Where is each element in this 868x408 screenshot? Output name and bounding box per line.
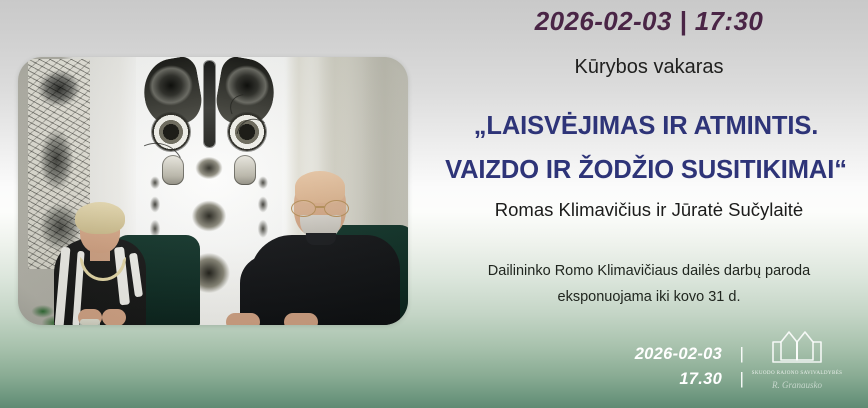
photo-man-bald-head	[295, 171, 345, 203]
headline-date-time: 2026-02-03 | 17:30	[430, 6, 868, 37]
library-logo-name: SKUODO RAJONO SAVIVALDYBĖS	[748, 370, 846, 376]
library-logo: SKUODO RAJONO SAVIVALDYBĖS R. Granausko	[748, 330, 846, 400]
footer-date: 2026-02-03	[635, 345, 722, 363]
footer-separator-2: |	[727, 367, 744, 392]
exhibition-note-line-2: eksponuojama iki kovo 31 d.	[440, 284, 858, 310]
event-title-line-1: „LAISVĖJIMAS IR ATMINTIS.	[424, 104, 868, 148]
glasses-left-lens	[291, 200, 316, 217]
photo-man-hand	[226, 313, 260, 325]
photo-water-glass	[80, 319, 100, 325]
footer-separator-1: |	[727, 342, 744, 367]
event-title-line-2: VAIZDO IR ŽODŽIO SUSITIKIMAI“	[424, 148, 868, 192]
footer-date-row: 2026-02-03 |	[635, 342, 744, 367]
photo-woman-hand	[102, 309, 126, 325]
footer-date-time: 2026-02-03 | 17.30 |	[635, 342, 744, 392]
event-kind-label: Kūrybos vakaras	[430, 56, 868, 79]
footer-time-row: 17.30 |	[635, 367, 744, 392]
footer-time: 17.30	[679, 370, 722, 388]
photo-man-hand	[284, 313, 318, 325]
exhibition-note: Dailininko Romo Klimavičiaus dailės darb…	[440, 258, 858, 310]
photo-man-glasses	[289, 200, 351, 215]
library-logo-signature: R. Granausko	[748, 380, 846, 390]
event-authors: Romas Klimavičius ir Jūratė Sučylaitė	[430, 199, 868, 221]
event-title: „LAISVĖJIMAS IR ATMINTIS. VAIZDO IR ŽODŽ…	[424, 104, 868, 192]
photo-woman-hair	[75, 202, 125, 234]
butterfly-body	[204, 61, 215, 147]
photo-man-body	[250, 235, 400, 325]
event-photo	[18, 57, 408, 325]
event-poster: 2026-02-03 | 17:30 Kūrybos vakaras „LAIS…	[0, 0, 868, 408]
glasses-right-lens	[324, 200, 349, 217]
poster-footer: 2026-02-03 | 17.30 | SKUODO RAJONO SAVIV…	[602, 328, 852, 402]
photo-man-collar	[306, 233, 336, 245]
glasses-bridge	[315, 206, 325, 208]
open-book-icon	[759, 330, 835, 370]
exhibition-note-line-1: Dailininko Romo Klimavičiaus dailės darb…	[440, 258, 858, 284]
